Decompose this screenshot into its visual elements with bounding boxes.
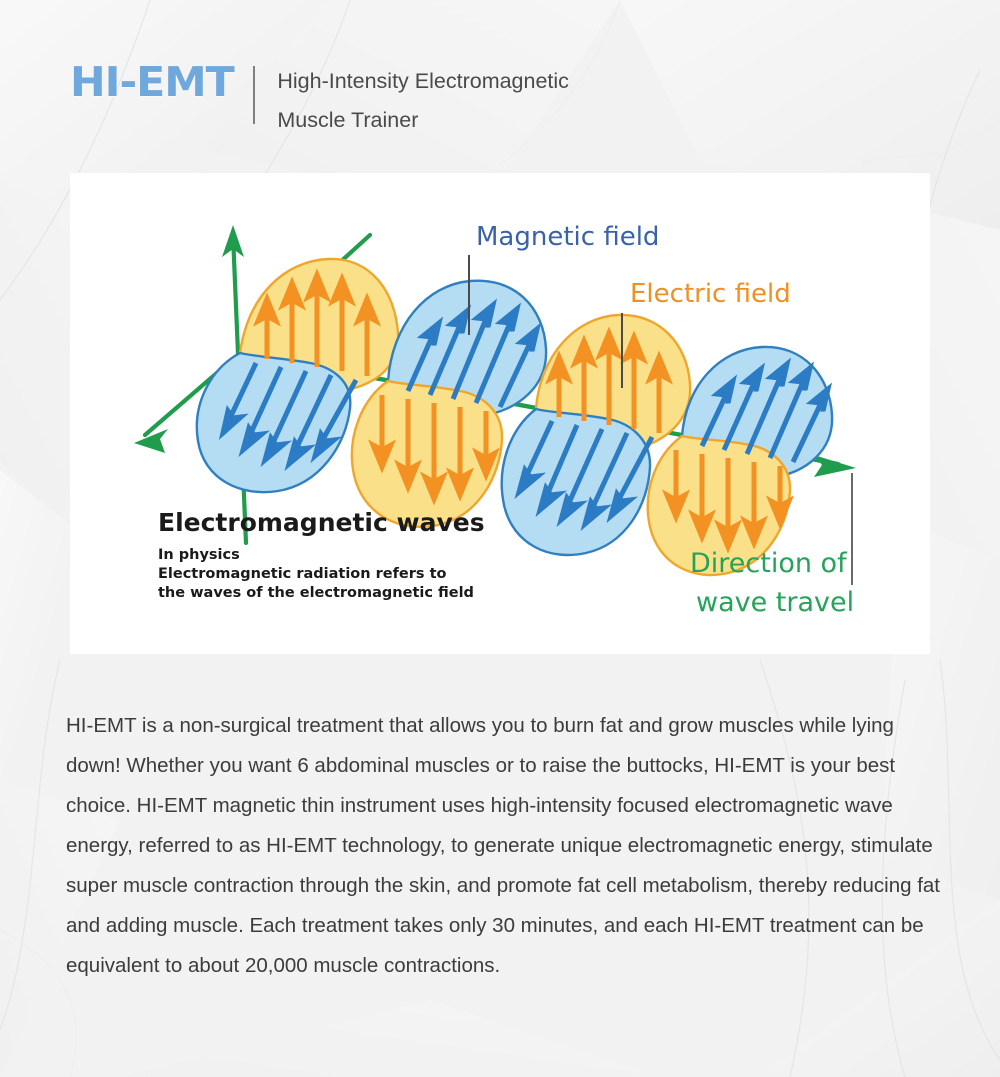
page-header: HI-EMT High-Intensity Electromagnetic Mu… bbox=[70, 56, 569, 140]
direction-label-line-2: wave travel bbox=[696, 587, 854, 618]
description-paragraph: HI-EMT is a non-surgical treatment that … bbox=[66, 706, 946, 986]
electric-field-label: Electric field bbox=[630, 279, 791, 309]
diagram-caption-line-3: the waves of the electromagnetic field bbox=[158, 585, 474, 601]
header-divider bbox=[253, 66, 255, 124]
axis-depth-arrowhead bbox=[134, 429, 168, 453]
magnetic-lobe-1 bbox=[197, 353, 350, 492]
brand-logo: HI-EMT bbox=[70, 62, 234, 103]
body-copy: HI-EMT is a non-surgical treatment that … bbox=[66, 706, 946, 986]
subtitle-line-2: Muscle Trainer bbox=[277, 101, 569, 140]
diagram-title: Electromagnetic waves bbox=[158, 508, 485, 537]
electromagnetic-wave-diagram: Magnetic field Electric field Direction … bbox=[70, 173, 930, 654]
direction-label-line-1: Direction of bbox=[690, 548, 848, 579]
magnetic-field-label: Magnetic field bbox=[476, 222, 659, 252]
subtitle-line-1: High-Intensity Electromagnetic bbox=[277, 62, 569, 101]
diagram-card: Magnetic field Electric field Direction … bbox=[70, 173, 930, 654]
propagation-arrowhead bbox=[814, 455, 856, 477]
diagram-caption-line-2: Electromagnetic radiation refers to bbox=[158, 566, 447, 582]
page-subtitle: High-Intensity Electromagnetic Muscle Tr… bbox=[277, 62, 569, 140]
diagram-caption-line-1: In physics bbox=[158, 547, 240, 563]
